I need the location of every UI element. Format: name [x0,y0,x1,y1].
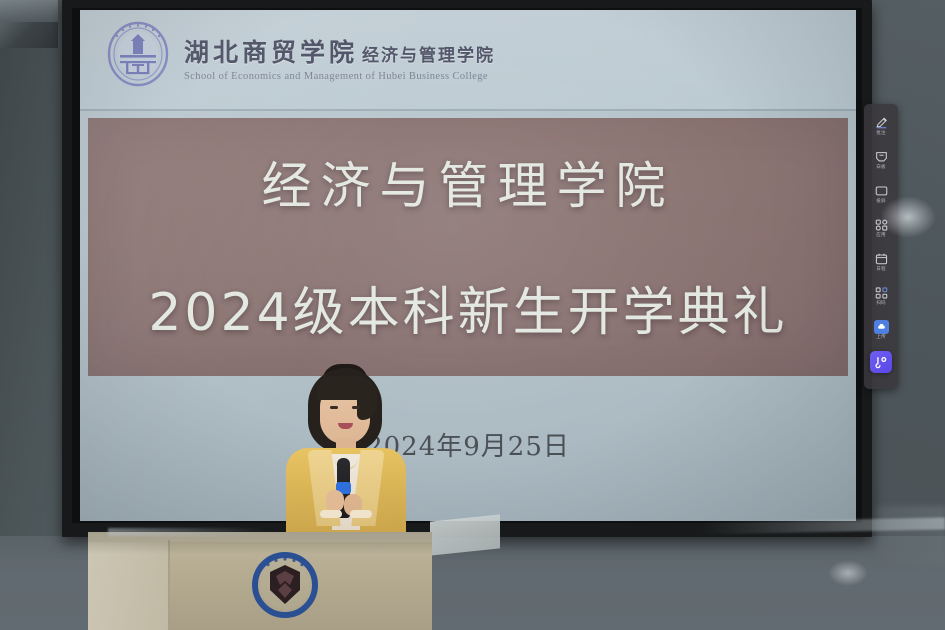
wall-glare-lower [828,560,868,586]
brand-chinese-sub: 经济与管理学院 [362,41,495,66]
pen-annotate-icon [874,116,889,130]
brand-chinese-line: 湖北商贸学院 经济与管理学院 [184,33,495,69]
presenter-hand-left [326,490,344,512]
title-banner: 经济与管理学院 2024级本科新生开学典礼 [88,118,848,376]
brand-text-block: 湖北商贸学院 经济与管理学院 School of Economics and M… [184,27,495,82]
header-divider [80,109,856,111]
wall-panel-highlight [0,0,58,22]
toolbar-label-whiteboard: 白板 [876,165,886,170]
cloud-upload-icon [874,320,889,334]
presenter-cuff-left [320,510,342,518]
assistant-icon[interactable] [870,351,892,373]
qr-code-icon [874,286,889,300]
toolbar-label-upload: 上传 [876,335,886,340]
toolbar-item-whiteboard[interactable]: 白板 [864,143,898,176]
presentation-slide[interactable]: 湖北商贸学院 经济与管理学院 School of Economics and M… [80,10,856,521]
podium-seam [168,540,170,630]
brand-lockup: 湖北商贸学院 经济与管理学院 School of Economics and M… [106,20,495,88]
toolbar-label-qrcode: 扫码 [876,301,886,306]
wall-light-streak-left [108,528,268,536]
brand-chinese-main: 湖北商贸学院 [184,33,358,69]
toolbar-item-calendar[interactable]: 日程 [864,245,898,278]
presenter-fringe-side [357,380,377,420]
slide-date: 2024年9月25日 [80,426,856,463]
brand-english-line: School of Economics and Management of Hu… [184,71,495,82]
toolbar-item-qrcode[interactable]: 扫码 [864,279,898,312]
wall-corner-shade [876,506,945,566]
whiteboard-icon [874,150,889,164]
toolbar-item-upload[interactable]: 上传 [864,313,898,346]
wall-glare [880,196,936,238]
presenter-figure [262,366,432,536]
presenter-eye-right [352,406,360,409]
presenter-eye-left [330,406,338,409]
college-shield-emblem-icon [252,552,318,618]
banner-title-line-1: 经济与管理学院 [88,146,848,218]
presenter-cuff-right [350,510,372,518]
lecture-hall-scene: 湖北商贸学院 经济与管理学院 School of Economics and M… [0,0,945,630]
banner-title-line-2: 2024级本科新生开学典礼 [88,270,848,345]
toolbar-label-annotate: 批注 [876,131,886,136]
toolbar-label-calendar: 日程 [876,267,886,272]
calendar-icon [874,252,889,266]
toolbar-item-annotate[interactable]: 批注 [864,109,898,142]
university-crest-icon [106,20,170,88]
floating-toolbar[interactable]: 批注 白板 投屏 应用 [864,104,898,389]
